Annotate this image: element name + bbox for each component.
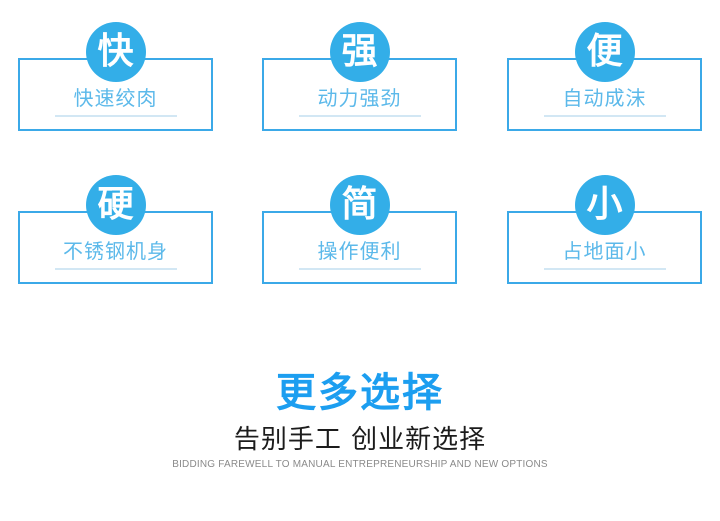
feature-card-6[interactable]: 占地面小 小 xyxy=(507,211,702,284)
feature-label: 快速绞肉 xyxy=(18,86,213,110)
tagline-headline: 更多选择 xyxy=(0,370,720,416)
feature-badge-icon: 硬 xyxy=(86,175,146,235)
feature-badge-icon: 简 xyxy=(330,175,390,235)
feature-card-4[interactable]: 不锈钢机身 硬 xyxy=(18,211,213,284)
feature-underline xyxy=(299,115,421,117)
feature-underline xyxy=(544,115,666,117)
feature-underline xyxy=(55,268,177,270)
tagline-subtitle: 告别手工 创业新选择 xyxy=(0,424,720,456)
feature-label: 动力强劲 xyxy=(262,86,457,110)
feature-grid: 快速绞肉 快 动力强劲 强 自动成沫 便 不锈钢机身 硬 操作便利 简 xyxy=(0,0,720,300)
feature-badge-icon: 便 xyxy=(575,22,635,82)
feature-badge-icon: 快 xyxy=(86,22,146,82)
feature-label: 操作便利 xyxy=(262,239,457,263)
feature-underline xyxy=(299,268,421,270)
feature-card-5[interactable]: 操作便利 简 xyxy=(262,211,457,284)
feature-underline xyxy=(55,115,177,117)
feature-label: 占地面小 xyxy=(507,239,702,263)
feature-underline xyxy=(544,268,666,270)
feature-badge-icon: 小 xyxy=(575,175,635,235)
feature-label: 自动成沫 xyxy=(507,86,702,110)
feature-badge-icon: 强 xyxy=(330,22,390,82)
feature-card-3[interactable]: 自动成沫 便 xyxy=(507,58,702,131)
promo-banner: 快速绞肉 快 动力强劲 强 自动成沫 便 不锈钢机身 硬 操作便利 简 xyxy=(0,0,720,521)
feature-label: 不锈钢机身 xyxy=(18,239,213,263)
tagline-block: 更多选择 告别手工 创业新选择 BIDDING FAREWELL TO MANU… xyxy=(0,370,720,472)
feature-card-2[interactable]: 动力强劲 强 xyxy=(262,58,457,131)
tagline-caption: BIDDING FAREWELL TO MANUAL ENTREPRENEURS… xyxy=(0,458,720,472)
feature-card-1[interactable]: 快速绞肉 快 xyxy=(18,58,213,131)
